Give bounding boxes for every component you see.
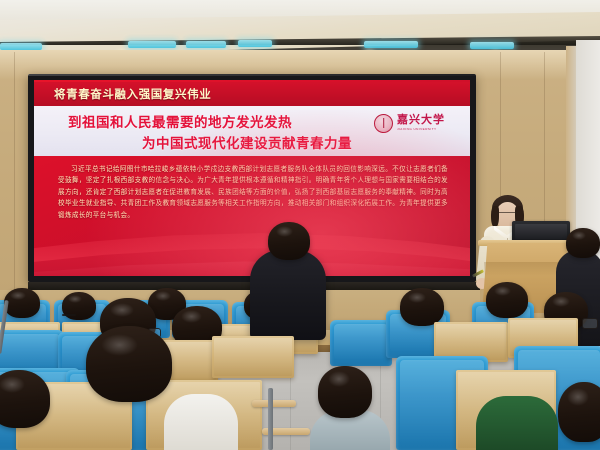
audience-head [486,282,528,318]
university-logo: 嘉兴大学 JIAXING UNIVERSITY [374,110,460,136]
seat-desk [212,336,294,378]
audience-head [558,382,600,442]
presenter-glasses [498,212,517,218]
slide-body-text: 习近平总书记给阿图什市哈拉峻乡蕴依特小学戍边支教西部计划志愿者服务队全体队员的回… [58,164,448,221]
slide-headline-line1: 到祖国和人民最需要的地方发光发热 [68,111,292,131]
university-seal-icon [374,114,393,133]
seat [330,320,392,366]
slide-headline-line2: 为中国式现代化建设贡献青春力量 [142,132,352,152]
audience-head [86,326,172,402]
seat-armrest [252,400,296,407]
led-display-screen: 将青春奋斗融入强国复兴伟业 到祖国和人民最需要的地方发光发热 为中国式现代化建设… [34,80,470,276]
panel-light [470,42,514,49]
audience-head [318,366,372,418]
standing-person-torso [250,250,326,340]
logo-institution-cn: 嘉兴大学 [397,115,445,126]
audience-head [400,288,444,326]
lecture-hall-photo: 将青春奋斗融入强国复兴伟业 到祖国和人民最需要的地方发光发热 为中国式现代化建设… [0,0,600,450]
panel-light [364,41,418,48]
logo-institution-en: JIAXING UNIVERSITY [397,128,445,131]
eyeglasses-icon [582,318,598,329]
slide-top-banner: 将青春奋斗融入强国复兴伟业 [34,82,470,106]
audience-torso [164,394,238,450]
slide-banner-text: 将青春奋斗融入强国复兴伟业 [54,86,211,102]
slide-headline-panel: 到祖国和人民最需要的地方发光发热 为中国式现代化建设贡献青春力量 嘉兴大学 JI… [34,106,470,156]
audience-torso [476,396,558,450]
panel-light [0,43,42,50]
standing-person-head [268,222,310,260]
panel-light [186,41,226,48]
standing-person-head [566,228,600,258]
eyeglasses-icon [62,314,76,316]
laptop-screen [512,221,570,242]
logo-wordmark: 嘉兴大学 JIAXING UNIVERSITY [397,115,445,131]
audience-head [0,370,50,428]
panel-light [128,41,176,48]
seat-frame-rail [268,388,273,450]
led-display-bezel: 将青春奋斗融入强国复兴伟业 到祖国和人民最需要的地方发光发热 为中国式现代化建设… [28,74,476,282]
panel-light [238,40,272,47]
audience-head [4,288,40,318]
